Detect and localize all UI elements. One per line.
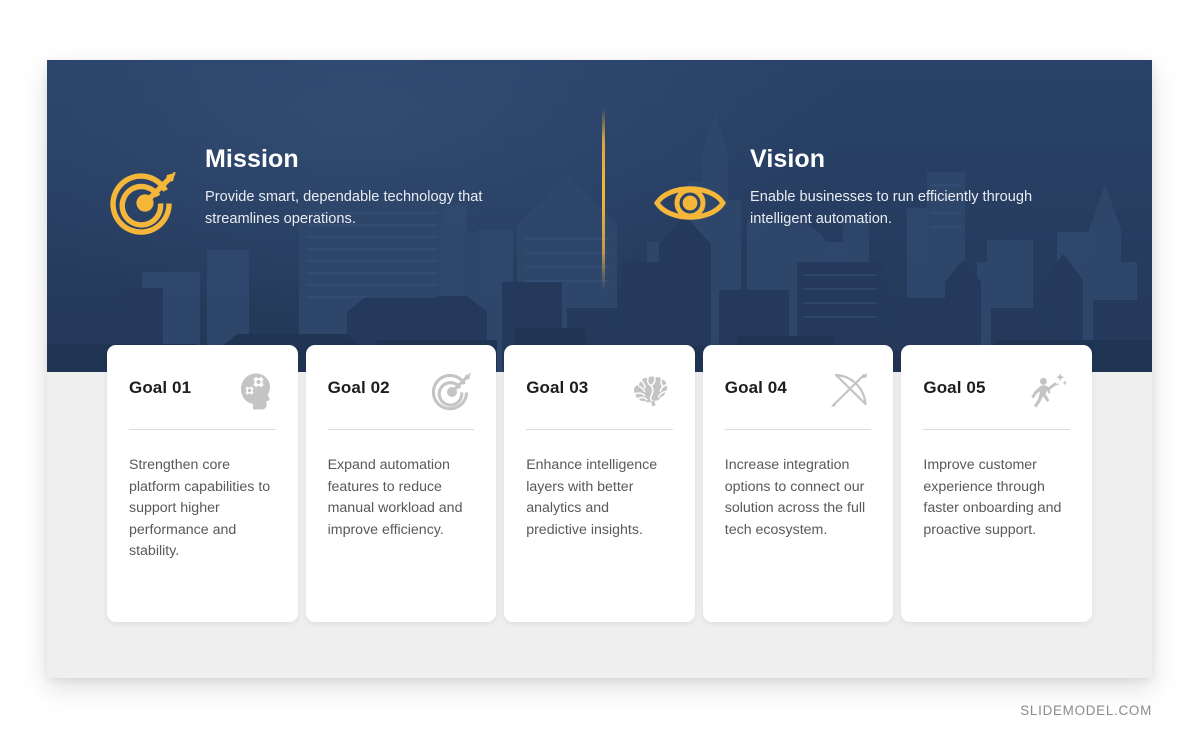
mission-description: Provide smart, dependable technology tha… <box>205 187 535 231</box>
card-description: Increase integration options to connect … <box>725 455 872 541</box>
card-header: Goal 03 <box>526 371 673 417</box>
vision-description: Enable businesses to run efficiently thr… <box>750 187 1080 231</box>
card-header: Goal 04 <box>725 371 872 417</box>
card-header: Goal 01 <box>129 371 276 417</box>
card-divider <box>725 429 872 430</box>
card-title: Goal 01 <box>129 371 191 398</box>
card-description: Strengthen core platform capabilities to… <box>129 455 276 563</box>
card-title: Goal 02 <box>328 371 390 398</box>
vision-block: Vision Enable businesses to run efficien… <box>652 143 1122 241</box>
card-title: Goal 05 <box>923 371 985 398</box>
brain-icon <box>629 371 673 415</box>
slide: Mission Provide smart, dependable techno… <box>47 60 1152 678</box>
goal-card[interactable]: Goal 01 <box>107 345 298 622</box>
card-divider <box>129 429 276 430</box>
target-arrow-icon <box>107 165 183 241</box>
screenshot-canvas: Mission Provide smart, dependable techno… <box>0 0 1200 743</box>
gold-divider-icon <box>602 108 605 290</box>
mission-title: Mission <box>205 145 535 174</box>
goal-card[interactable]: Goal 02 <box>306 345 497 622</box>
card-header: Goal 02 <box>328 371 475 417</box>
vision-text: Vision Enable businesses to run efficien… <box>750 143 1080 231</box>
vision-title: Vision <box>750 145 1080 174</box>
card-description: Enhance intelligence layers with better … <box>526 455 673 541</box>
goal-card[interactable]: Goal 04 Increas <box>703 345 894 622</box>
card-title: Goal 03 <box>526 371 588 398</box>
mission-block: Mission Provide smart, dependable techno… <box>107 143 587 241</box>
card-divider <box>923 429 1070 430</box>
eye-icon <box>652 165 728 241</box>
card-description: Expand automation features to reduce man… <box>328 455 475 541</box>
goal-card[interactable]: Goal 03 <box>504 345 695 622</box>
slidemodel-watermark: SLIDEMODEL.COM <box>1020 703 1152 718</box>
card-description: Improve customer experience through fast… <box>923 455 1070 541</box>
head-with-gears-icon <box>232 371 276 415</box>
card-divider <box>328 429 475 430</box>
card-title: Goal 04 <box>725 371 787 398</box>
card-header: Goal 05 <box>923 371 1070 417</box>
mission-text: Mission Provide smart, dependable techno… <box>205 143 535 231</box>
person-reaching-star-icon <box>1026 371 1070 415</box>
card-divider <box>526 429 673 430</box>
goal-cards: Goal 01 <box>107 345 1092 622</box>
target-arrow-icon <box>430 371 474 415</box>
bow-and-arrow-icon <box>827 371 871 415</box>
goal-card[interactable]: Goal 05 <box>901 345 1092 622</box>
